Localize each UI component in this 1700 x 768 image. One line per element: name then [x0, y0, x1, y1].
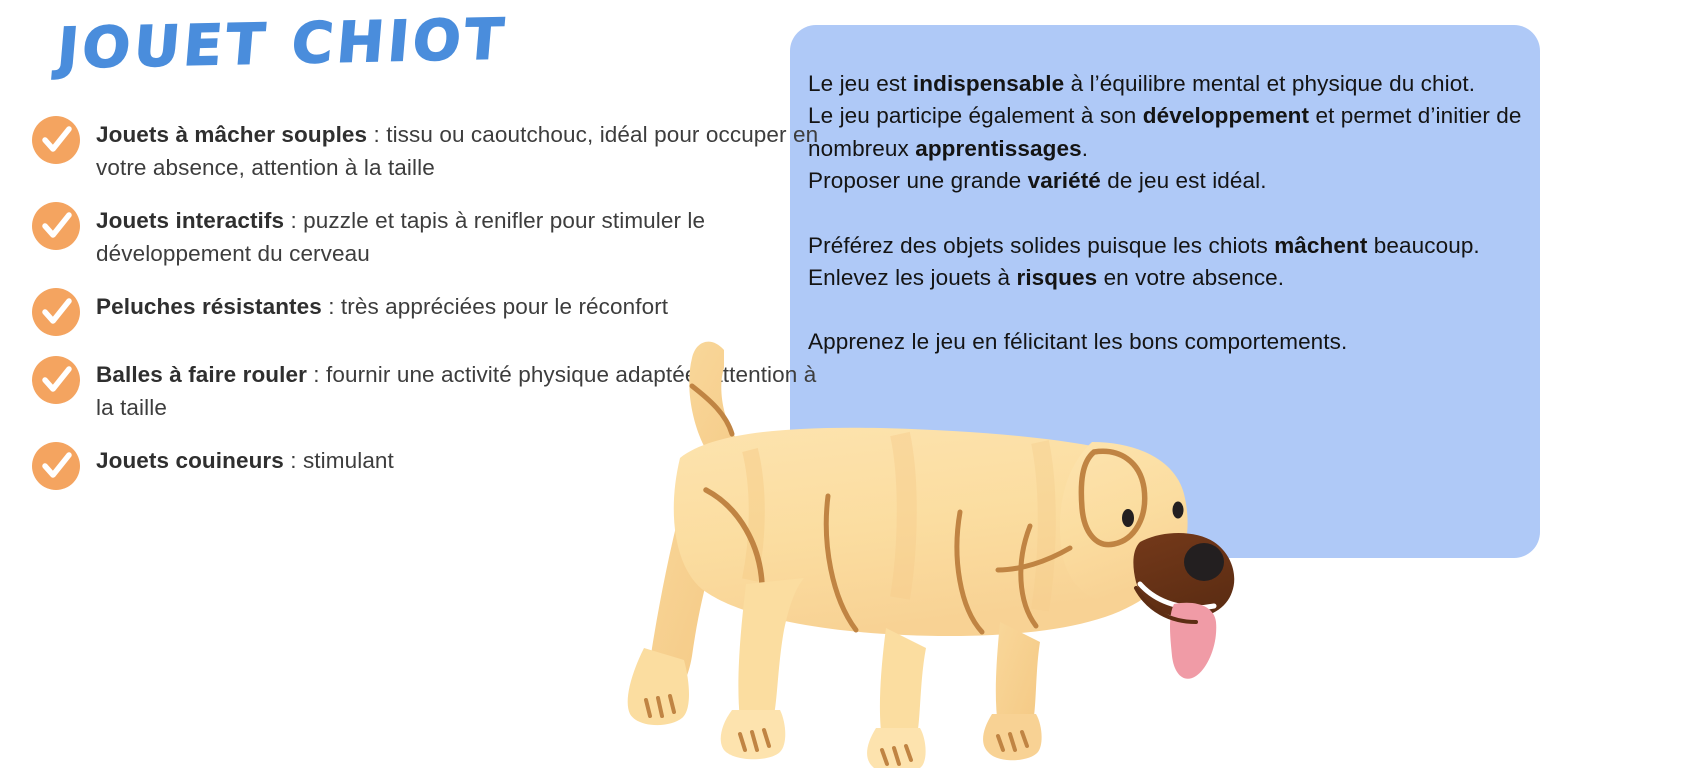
panel-run: Proposer une grande	[808, 168, 1028, 193]
dog-fur-shade	[1040, 442, 1047, 610]
list-item-label: Balles à faire rouler	[96, 362, 307, 387]
infographic-canvas: JOUET CHIOT Jouets à mâcher souples : ti…	[0, 0, 1700, 768]
panel-emphasis: indispensable	[913, 71, 1064, 96]
dog-nose	[1184, 543, 1224, 581]
check-circle-icon	[30, 440, 82, 492]
list-item-text: Jouets interactifs : puzzle et tapis à r…	[96, 198, 820, 270]
check-circle-icon	[30, 200, 82, 252]
paragraph-spacer	[808, 198, 1524, 230]
panel-emphasis: développement	[1143, 103, 1309, 128]
list-item-label: Jouets couineurs	[96, 448, 284, 473]
paragraph-spacer	[808, 294, 1524, 326]
list-item-text: Jouets couineurs : stimulant	[96, 438, 394, 477]
panel-paragraph: Proposer une grande variété de jeu est i…	[808, 165, 1524, 197]
list-item-text: Peluches résistantes : très appréciées p…	[96, 284, 668, 323]
panel-paragraph: Préférez des objets solides puisque les …	[808, 230, 1524, 262]
panel-run: en votre absence.	[1097, 265, 1284, 290]
dog-fur-shade	[900, 434, 907, 598]
dog-eye-left	[1122, 509, 1134, 527]
panel-paragraph: Enlevez les jouets à risques en votre ab…	[808, 262, 1524, 294]
panel-run: Le jeu participe également à son	[808, 103, 1143, 128]
page-title: JOUET CHIOT	[55, 7, 510, 81]
dog-paw-hind-far	[628, 648, 689, 725]
panel-emphasis: mâchent	[1274, 233, 1367, 258]
labrador-puppy-illustration	[600, 330, 1240, 768]
panel-paragraph: Apprenez le jeu en félicitant les bons c…	[808, 326, 1524, 358]
panel-paragraph: Le jeu est indispensable à l’équilibre m…	[808, 68, 1524, 100]
list-item-label: Jouets à mâcher souples	[96, 122, 367, 147]
panel-run: Apprenez le jeu en félicitant les bons c…	[808, 329, 1347, 354]
list-item-text: Jouets à mâcher souples : tissu ou caout…	[96, 112, 820, 184]
list-item-label: Peluches résistantes	[96, 294, 322, 319]
panel-run: à l’équilibre mental et physique du chio…	[1064, 71, 1475, 96]
info-panel-text: Le jeu est indispensable à l’équilibre m…	[808, 68, 1524, 359]
panel-run: .	[1082, 136, 1088, 161]
dog-eye-right	[1173, 502, 1184, 519]
list-item-label: Jouets interactifs	[96, 208, 284, 233]
panel-paragraph: Le jeu participe également à son dévelop…	[808, 100, 1524, 165]
panel-emphasis: apprentissages	[915, 136, 1081, 161]
list-item: Jouets interactifs : puzzle et tapis à r…	[30, 198, 820, 270]
check-circle-icon	[30, 354, 82, 406]
list-item: Jouets à mâcher souples : tissu ou caout…	[30, 112, 820, 184]
dog-tongue	[1170, 603, 1216, 679]
panel-emphasis: risques	[1016, 265, 1097, 290]
check-circle-icon	[30, 114, 82, 166]
panel-emphasis: variété	[1028, 168, 1101, 193]
check-circle-icon	[30, 286, 82, 338]
panel-run: Enlevez les jouets à	[808, 265, 1016, 290]
panel-run: Préférez des objets solides puisque les …	[808, 233, 1274, 258]
list-item-description: : très appréciées pour le réconfort	[322, 294, 668, 319]
list-item-description: : stimulant	[284, 448, 394, 473]
panel-run: de jeu est idéal.	[1101, 168, 1267, 193]
panel-run: beaucoup.	[1367, 233, 1479, 258]
panel-run: Le jeu est	[808, 71, 913, 96]
